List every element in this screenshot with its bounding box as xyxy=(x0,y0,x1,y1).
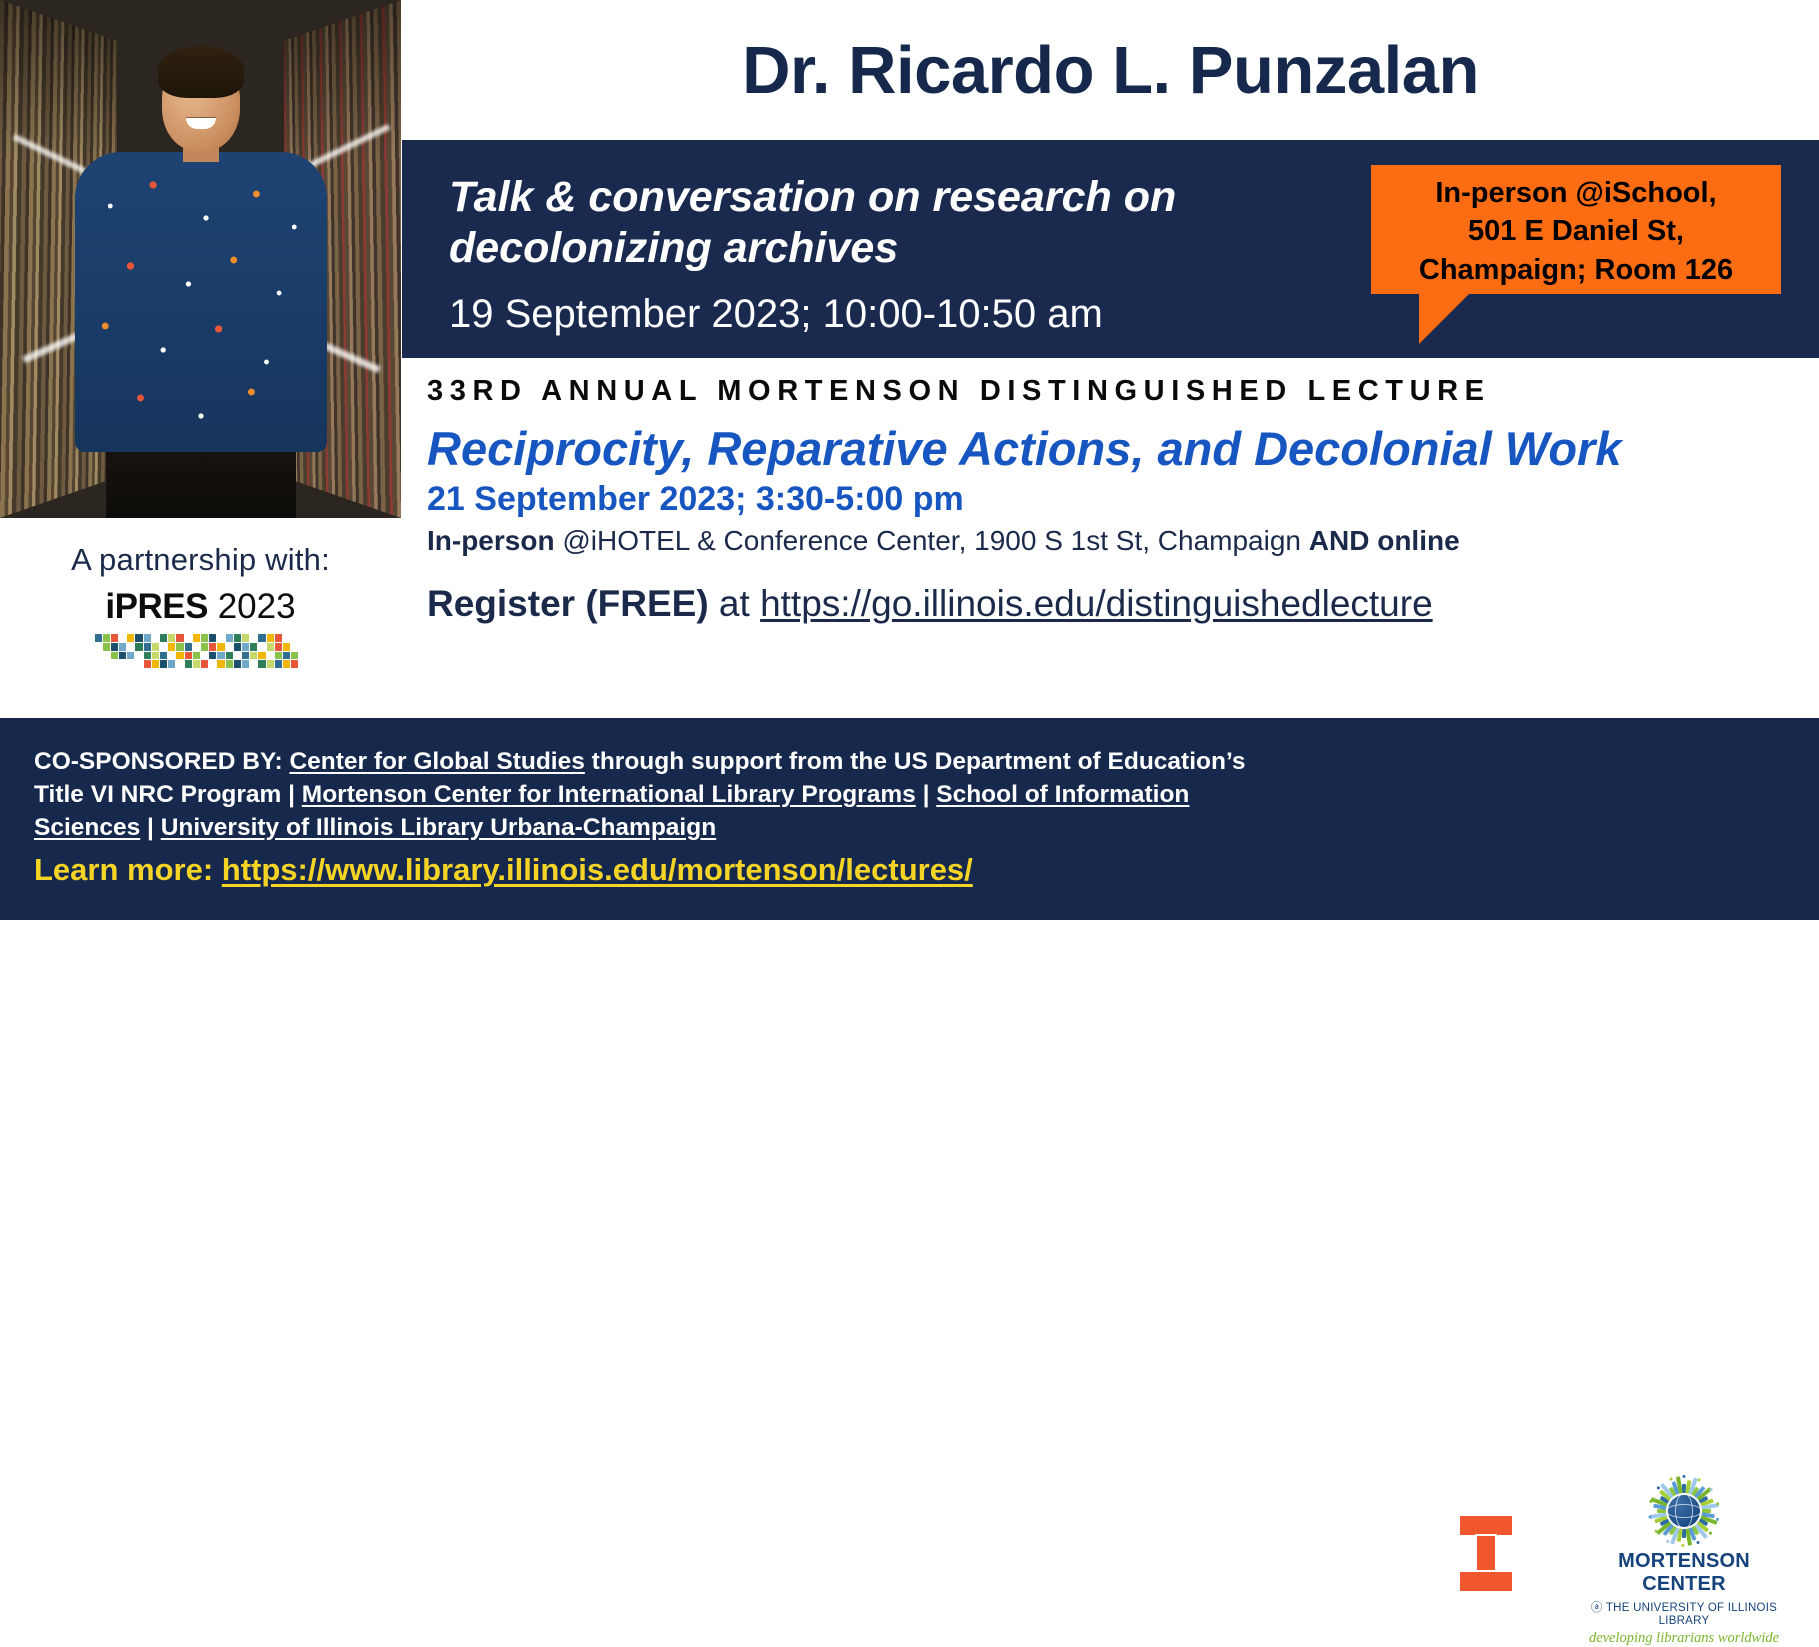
callout-tail-icon xyxy=(1419,294,1469,344)
venue-mode: In-person xyxy=(427,525,555,556)
mosaic-cell xyxy=(258,652,265,660)
mosaic-cell xyxy=(127,643,134,651)
burst-dot xyxy=(1716,1502,1720,1506)
mosaic-cell xyxy=(176,634,183,642)
mosaic-cell xyxy=(144,660,151,668)
speaker-photo xyxy=(0,0,401,518)
mosaic-cell xyxy=(258,643,265,651)
mosaic-cell xyxy=(209,660,216,668)
mosaic-cell xyxy=(234,634,241,642)
mosaic-cell xyxy=(217,634,224,642)
mosaic-cell xyxy=(242,634,249,642)
cosponsor-line-2: Title VI NRC Program | Mortenson Center … xyxy=(34,778,1189,811)
mosaic-cell xyxy=(144,634,151,642)
mosaic-cell xyxy=(160,643,167,651)
link-sciences[interactable]: Sciences xyxy=(34,814,140,841)
burst-dot xyxy=(1708,1531,1712,1535)
mosaic-cell xyxy=(160,652,167,660)
callout-line-3: Champaign; Room 126 xyxy=(1371,251,1781,289)
mosaic-cell xyxy=(111,634,118,642)
register-line: Register (FREE) at https://go.illinois.e… xyxy=(427,583,1433,625)
learn-more-label: Learn more: xyxy=(34,852,222,887)
mosaic-cell xyxy=(185,634,192,642)
mosaic-cell xyxy=(144,643,151,651)
mosaic-cell xyxy=(283,634,290,642)
mosaic-cell xyxy=(160,634,167,642)
mosaic-cell xyxy=(242,652,249,660)
mosaic-cell xyxy=(234,652,241,660)
cosponsor-suffix: through support from the US Department o… xyxy=(585,748,1246,775)
talk-title: Talk & conversation on research on decol… xyxy=(449,172,1249,273)
mosaic-cell xyxy=(267,634,274,642)
block-i-bottom xyxy=(1458,1570,1514,1593)
mosaic-cell xyxy=(119,634,126,642)
partnership-block: A partnership with: iPRES 2023 xyxy=(0,518,401,718)
mosaic-cell xyxy=(234,643,241,651)
mosaic-cell xyxy=(217,652,224,660)
mosaic-cell xyxy=(250,652,257,660)
mosaic-cell xyxy=(135,634,142,642)
learn-more-link[interactable]: https://www.library.illinois.edu/mortens… xyxy=(222,852,973,887)
mosaic-cell xyxy=(258,660,265,668)
callout-line-1: In-person @iSchool, xyxy=(1371,174,1781,212)
mortenson-tagline: developing librarians worldwide xyxy=(1578,1630,1790,1647)
mosaic-cell xyxy=(185,643,192,651)
mosaic-cell xyxy=(267,652,274,660)
mosaic-cell xyxy=(135,643,142,651)
burst-dot xyxy=(1709,1488,1713,1492)
mosaic-cell xyxy=(209,634,216,642)
mosaic-cell xyxy=(267,643,274,651)
mosaic-cell xyxy=(176,643,183,651)
mosaic-cell xyxy=(283,660,290,668)
mortenson-center-logo: MORTENSON CENTER ⓐ THE UNIVERSITY OF ILL… xyxy=(1578,1470,1790,1620)
mosaic-cell xyxy=(234,660,241,668)
mosaic-cell xyxy=(144,652,151,660)
mosaic-cell xyxy=(291,643,298,651)
globe-burst-icon xyxy=(1639,1476,1729,1546)
mosaic-cell xyxy=(135,652,142,660)
cosponsor-line-1: CO-SPONSORED BY: Center for Global Studi… xyxy=(34,745,1245,778)
partnership-label: A partnership with: xyxy=(0,542,401,578)
mosaic-cell xyxy=(201,660,208,668)
mosaic-cell xyxy=(226,652,233,660)
register-at: at xyxy=(709,583,760,624)
link-mortenson-center[interactable]: Mortenson Center for International Libra… xyxy=(302,781,916,808)
mosaic-cell xyxy=(103,652,110,660)
ipres-mosaic-icon xyxy=(95,634,307,668)
lecture-datetime: 21 September 2023; 3:30-5:00 pm xyxy=(427,480,964,519)
footer: CO-SPONSORED BY: Center for Global Studi… xyxy=(0,718,1819,920)
block-i-logo-icon xyxy=(1458,1514,1514,1592)
link-school-of-information[interactable]: School of Information xyxy=(936,781,1189,808)
lecture-venue: In-person @iHOTEL & Conference Center, 1… xyxy=(427,525,1460,557)
mosaic-cell xyxy=(291,652,298,660)
mosaic-cell xyxy=(119,643,126,651)
mosaic-cell xyxy=(176,660,183,668)
mosaic-cell xyxy=(193,634,200,642)
mosaic-cell xyxy=(95,652,102,660)
person-shirt xyxy=(75,152,327,452)
mosaic-cell xyxy=(152,634,159,642)
block-i-stem xyxy=(1475,1534,1497,1574)
mosaic-cell xyxy=(176,652,183,660)
lecture-details: 33RD ANNUAL MORTENSON DISTINGUISHED LECT… xyxy=(402,358,1819,718)
mosaic-cell xyxy=(95,634,102,642)
mosaic-cell xyxy=(168,652,175,660)
mosaic-cell xyxy=(299,652,306,660)
venue-online: AND online xyxy=(1309,525,1460,556)
ipres-wordmark: iPRES xyxy=(105,587,208,626)
mosaic-cell xyxy=(119,652,126,660)
mosaic-cell xyxy=(103,634,110,642)
mosaic-cell xyxy=(226,660,233,668)
mortenson-name: MORTENSON CENTER xyxy=(1578,1550,1790,1596)
mosaic-cell xyxy=(283,643,290,651)
mosaic-cell xyxy=(152,652,159,660)
mosaic-cell xyxy=(119,660,126,668)
mosaic-cell xyxy=(217,660,224,668)
mosaic-cell xyxy=(291,660,298,668)
mosaic-cell xyxy=(127,652,134,660)
callout-line-2: 501 E Daniel St, xyxy=(1371,212,1781,250)
mosaic-cell xyxy=(111,643,118,651)
mosaic-cell xyxy=(250,660,257,668)
mosaic-cell xyxy=(193,660,200,668)
burst-dot xyxy=(1649,1500,1653,1504)
register-label: Register (FREE) xyxy=(427,583,709,624)
mosaic-cell xyxy=(291,634,298,642)
mosaic-cell xyxy=(275,643,282,651)
mosaic-cell xyxy=(111,660,118,668)
ipres-year: 2023 xyxy=(208,587,296,626)
mosaic-cell xyxy=(299,634,306,642)
title-vi-text: Title VI NRC Program | xyxy=(34,781,302,808)
mosaic-cell xyxy=(250,643,257,651)
mosaic-cell xyxy=(299,643,306,651)
ipres-logo: iPRES 2023 xyxy=(0,587,401,627)
cosponsor-prefix: CO-SPONSORED BY: xyxy=(34,748,289,775)
link-center-global-studies[interactable]: Center for Global Studies xyxy=(289,748,584,775)
mosaic-cell xyxy=(250,634,257,642)
learn-more-line: Learn more: https://www.library.illinois… xyxy=(34,852,973,888)
mosaic-cell xyxy=(283,652,290,660)
mosaic-cell xyxy=(201,643,208,651)
mosaic-cell xyxy=(127,660,134,668)
mosaic-cell xyxy=(95,660,102,668)
mosaic-cell xyxy=(242,643,249,651)
mosaic-cell xyxy=(185,652,192,660)
separator: | xyxy=(916,781,936,808)
separator: | xyxy=(140,814,160,841)
talk-datetime: 19 September 2023; 10:00-10:50 am xyxy=(449,292,1103,337)
cosponsor-line-3: Sciences | University of Illinois Librar… xyxy=(34,811,716,844)
mosaic-cell xyxy=(160,660,167,668)
burst-dot xyxy=(1669,1477,1673,1481)
mosaic-cell xyxy=(267,660,274,668)
mosaic-cell xyxy=(299,660,306,668)
mosaic-cell xyxy=(258,634,265,642)
mosaic-cell xyxy=(111,652,118,660)
mosaic-cell xyxy=(209,652,216,660)
mosaic-cell xyxy=(217,643,224,651)
mosaic-cell xyxy=(168,634,175,642)
mosaic-cell xyxy=(193,643,200,651)
mosaic-cell xyxy=(275,660,282,668)
burst-dot xyxy=(1681,1544,1684,1547)
burst-dot xyxy=(1697,1478,1701,1482)
mosaic-cell xyxy=(127,634,134,642)
title-bar: Dr. Ricardo L. Punzalan xyxy=(402,0,1819,140)
mosaic-cell xyxy=(168,643,175,651)
mosaic-cell xyxy=(95,643,102,651)
link-university-library[interactable]: University of Illinois Library Urbana-Ch… xyxy=(161,814,716,841)
mosaic-cell xyxy=(103,660,110,668)
lecture-title: Reciprocity, Reparative Actions, and Dec… xyxy=(427,421,1621,476)
mosaic-cell xyxy=(152,660,159,668)
mosaic-cell xyxy=(193,652,200,660)
mosaic-cell xyxy=(226,643,233,651)
mosaic-cell xyxy=(209,643,216,651)
location-callout: In-person @iSchool, 501 E Daniel St, Cha… xyxy=(1371,165,1781,294)
mosaic-cell xyxy=(242,660,249,668)
lecture-eyebrow: 33RD ANNUAL MORTENSON DISTINGUISHED LECT… xyxy=(427,375,1491,408)
mosaic-cell xyxy=(135,660,142,668)
venue-address: @iHOTEL & Conference Center, 1900 S 1st … xyxy=(555,525,1309,556)
register-link[interactable]: https://go.illinois.edu/distinguishedlec… xyxy=(760,583,1433,624)
mosaic-cell xyxy=(226,634,233,642)
speaker-name: Dr. Ricardo L. Punzalan xyxy=(742,32,1479,109)
mosaic-cell xyxy=(152,643,159,651)
mosaic-cell xyxy=(201,634,208,642)
mosaic-cell xyxy=(103,643,110,651)
burst-dot xyxy=(1696,1541,1700,1545)
mosaic-cell xyxy=(275,652,282,660)
burst-dot xyxy=(1683,1475,1686,1478)
mosaic-cell xyxy=(275,634,282,642)
burst-dot xyxy=(1716,1518,1720,1522)
mosaic-cell xyxy=(168,660,175,668)
mosaic-cell xyxy=(201,652,208,660)
mortenson-subtitle: ⓐ THE UNIVERSITY OF ILLINOIS LIBRARY xyxy=(1578,1599,1790,1627)
mosaic-cell xyxy=(185,660,192,668)
person-hair xyxy=(158,46,244,98)
